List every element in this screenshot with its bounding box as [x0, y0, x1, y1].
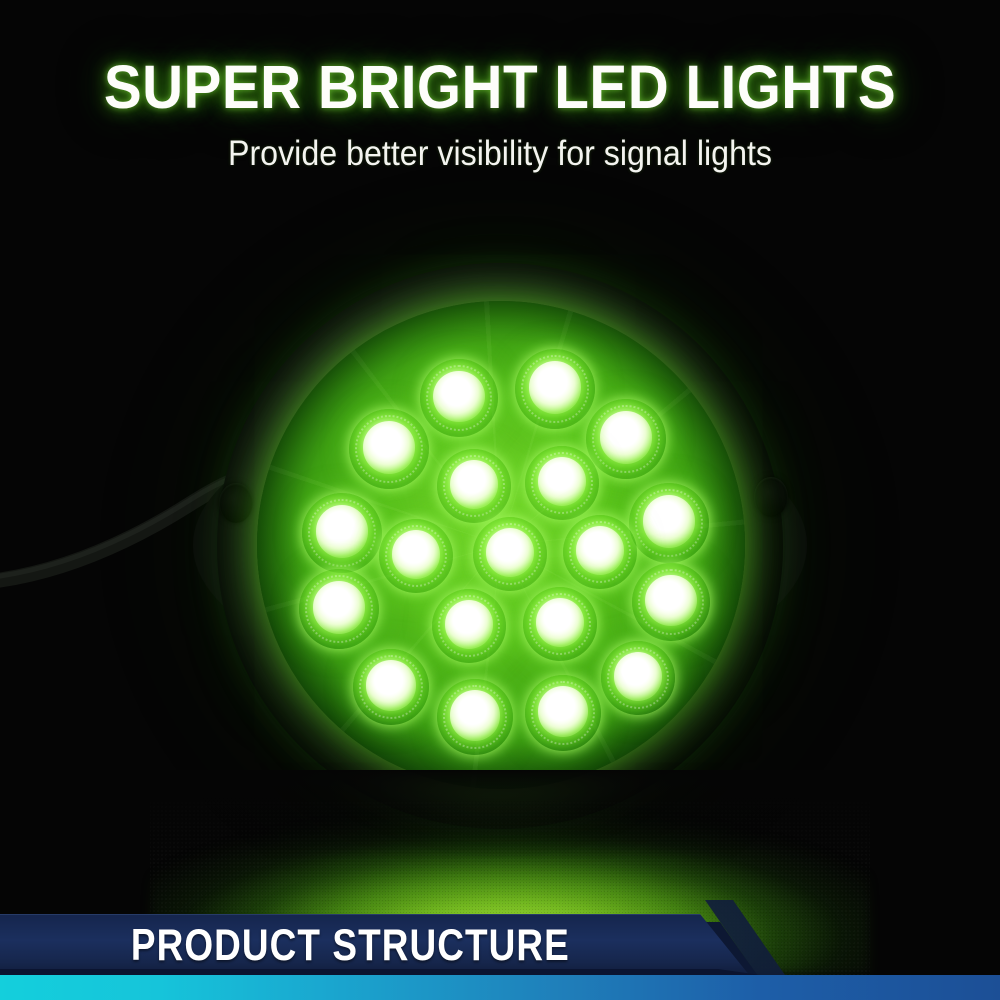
led-emitter	[601, 641, 675, 715]
page-subtitle: Provide better visibility for signal lig…	[40, 134, 960, 174]
led-emitter	[302, 493, 382, 573]
headline-container: SUPER BRIGHT LED LIGHTS	[0, 52, 1000, 122]
subheadline-container: Provide better visibility for signal lig…	[0, 134, 1000, 174]
led-emitter	[525, 675, 601, 751]
led-emitter	[437, 449, 511, 523]
page-title: SUPER BRIGHT LED LIGHTS	[35, 52, 965, 122]
led-emitter	[523, 587, 597, 661]
banner-label-container: PRODUCT STRUCTURE	[0, 914, 700, 976]
led-emitter	[586, 399, 666, 479]
led-emitter	[349, 409, 429, 489]
floor-fade	[0, 770, 1000, 860]
led-emitter	[629, 483, 709, 563]
banner-gradient-strip	[0, 975, 1000, 1000]
led-emitter	[515, 349, 595, 429]
led-emitter	[473, 517, 547, 591]
led-emitter	[632, 563, 710, 641]
led-emitter	[437, 679, 513, 755]
led-emitter	[432, 589, 506, 663]
led-lamp-product	[205, 255, 795, 845]
banner-title: PRODUCT STRUCTURE	[131, 919, 570, 970]
lamp-lens	[257, 301, 745, 789]
led-emitter	[420, 359, 498, 437]
led-emitter	[563, 515, 637, 589]
led-emitter	[525, 446, 599, 520]
mounting-hole-right	[754, 477, 788, 517]
bottom-banner: PRODUCT STRUCTURE	[0, 900, 1000, 1000]
led-emitter	[299, 569, 379, 649]
mounting-hole-left	[219, 483, 253, 523]
product-marketing-image: SUPER BRIGHT LED LIGHTS Provide better v…	[0, 0, 1000, 1000]
led-emitter	[379, 519, 453, 593]
led-emitter	[353, 649, 429, 725]
